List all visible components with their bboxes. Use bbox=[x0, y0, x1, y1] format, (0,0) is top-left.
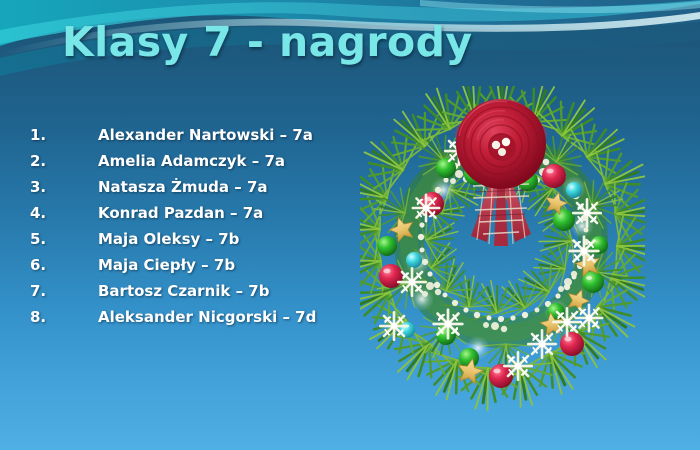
ball-green-icon bbox=[377, 236, 397, 256]
list-item-number: 1. bbox=[30, 126, 98, 144]
ball-cyan-icon bbox=[399, 322, 415, 338]
snowflake-icon bbox=[380, 312, 408, 340]
awards-list: 1. Alexander Nartowski – 7a 2. Amelia Ad… bbox=[30, 126, 360, 334]
list-item-label: Maja Ciepły – 7b bbox=[98, 256, 235, 274]
snowflake-icon bbox=[570, 237, 599, 266]
list-item: 7. Bartosz Czarnik – 7b bbox=[30, 282, 360, 308]
ball-green-icon bbox=[436, 158, 456, 178]
christmas-wreath-image bbox=[360, 86, 645, 426]
list-item-number: 2. bbox=[30, 152, 98, 170]
snowflake-icon bbox=[434, 310, 463, 339]
ball-red-icon bbox=[542, 164, 566, 188]
list-item-label: Bartosz Czarnik – 7b bbox=[98, 282, 269, 300]
ball-cyan-icon bbox=[566, 182, 582, 198]
list-item: 2. Amelia Adamczyk – 7a bbox=[30, 152, 360, 178]
list-item-number: 4. bbox=[30, 204, 98, 222]
snowflake-icon bbox=[398, 268, 426, 296]
list-item-label: Maja Oleksy – 7b bbox=[98, 230, 239, 248]
list-item: 8. Aleksander Nicgorski – 7d bbox=[30, 308, 360, 334]
snowflake-icon bbox=[413, 195, 439, 221]
page-title: Klasy 7 - nagrody bbox=[62, 18, 472, 66]
list-item-number: 8. bbox=[30, 308, 98, 326]
snowflake-icon bbox=[528, 330, 556, 358]
snowflake-icon bbox=[573, 199, 601, 227]
ball-cyan-icon bbox=[406, 252, 422, 268]
list-item: 1. Alexander Nartowski – 7a bbox=[30, 126, 360, 152]
list-item-label: Alexander Nartowski – 7a bbox=[98, 126, 313, 144]
ball-red-icon bbox=[379, 264, 403, 288]
ball-red-icon bbox=[560, 332, 584, 356]
list-item-label: Aleksander Nicgorski – 7d bbox=[98, 308, 316, 326]
ball-green-icon bbox=[553, 209, 575, 231]
snowflake-icon bbox=[553, 308, 581, 336]
list-item-label: Natasza Żmuda – 7a bbox=[98, 178, 268, 196]
snowflake-icon bbox=[504, 352, 532, 380]
list-item-number: 6. bbox=[30, 256, 98, 274]
list-item: 5. Maja Oleksy – 7b bbox=[30, 230, 360, 256]
list-item-label: Konrad Pazdan – 7a bbox=[98, 204, 263, 222]
slide-canvas: Klasy 7 - nagrody 1. Alexander Nartowski… bbox=[0, 0, 700, 450]
list-item: 6. Maja Ciepły – 7b bbox=[30, 256, 360, 282]
list-item-number: 3. bbox=[30, 178, 98, 196]
list-item-number: 7. bbox=[30, 282, 98, 300]
list-item-label: Amelia Adamczyk – 7a bbox=[98, 152, 285, 170]
snowflake-icon bbox=[576, 305, 602, 331]
list-item-number: 5. bbox=[30, 230, 98, 248]
list-item: 4. Konrad Pazdan – 7a bbox=[30, 204, 360, 230]
list-item: 3. Natasza Żmuda – 7a bbox=[30, 178, 360, 204]
